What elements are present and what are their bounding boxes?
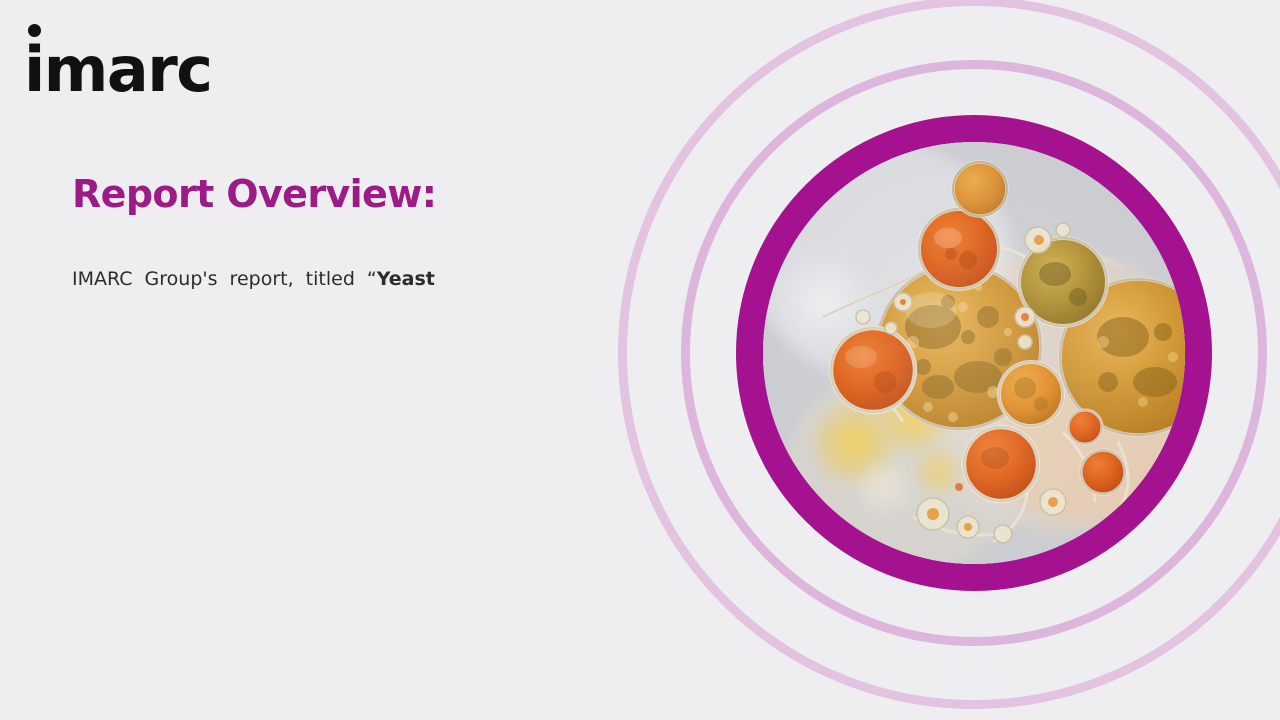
report-title-bold: Yeast — [377, 268, 435, 290]
report-overview-paragraph: IMARC Group's report, titled “Yeast — [72, 264, 582, 294]
content-block: Report Overview: IMARC Group's report, t… — [72, 170, 582, 294]
logo-wordmark: imarc — [24, 34, 212, 106]
page-title: Report Overview: — [72, 170, 582, 218]
quote-open: “ — [367, 268, 377, 290]
yeast-cells-microscopy-image — [763, 142, 1185, 564]
paragraph-prefix: IMARC Group's report, titled — [72, 268, 367, 290]
imarc-logo[interactable]: imarc — [20, 18, 260, 108]
slide-root: imarc Report Overview: IMARC Group's rep… — [0, 0, 1280, 720]
